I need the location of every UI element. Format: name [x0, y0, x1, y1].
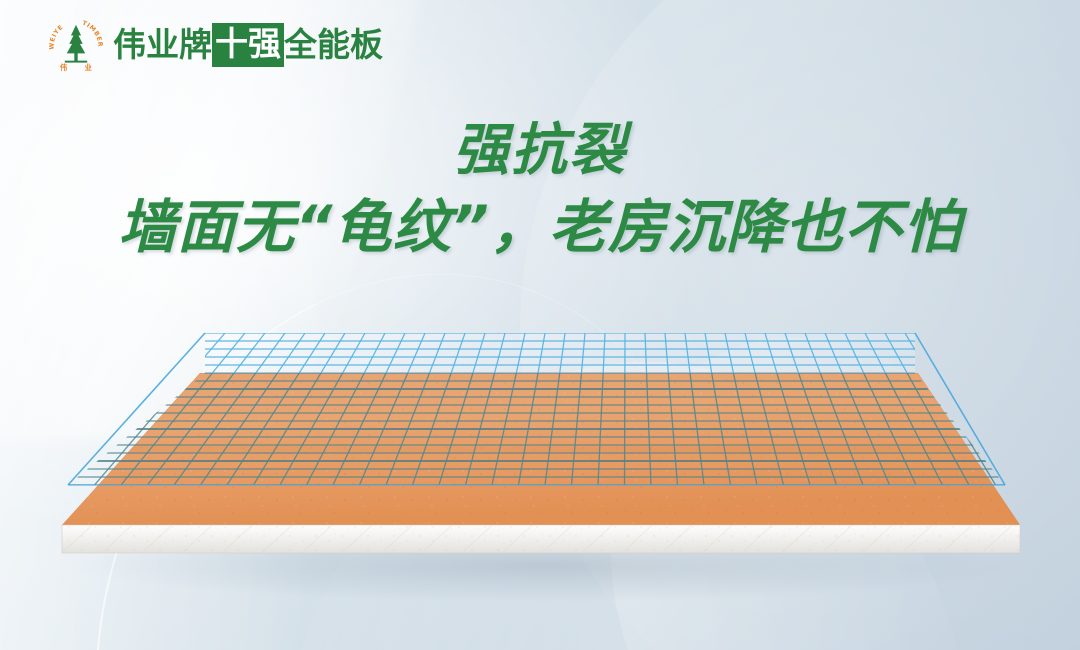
brand-lockup: WEIYE TIMBER 伟 业 伟业牌 十强 全能板	[48, 17, 383, 73]
headline-sub-text: 墙面无“龟纹”，老房沉降也不怕	[0, 190, 1080, 264]
wordmark-segment-badge: 十强	[212, 23, 284, 67]
logo-bottom-char-left: 伟	[60, 63, 68, 72]
poster-canvas: WEIYE TIMBER 伟 业 伟业牌 十强 全能板 强抗裂 墙面无“龟纹”，…	[0, 0, 1080, 650]
logo-ring-text-right: TIMBER	[81, 20, 103, 48]
board-top-face	[55, 368, 1030, 533]
logo-bottom-char-right: 业	[85, 63, 92, 72]
logo-ring-text-left: WEIYE	[49, 24, 65, 50]
pine-tree-shape	[67, 25, 85, 61]
product-board-svg	[0, 0, 1080, 650]
brand-wordmark: 伟业牌 十强 全能板	[113, 25, 383, 65]
svg-text:TIMBER: TIMBER	[81, 20, 103, 48]
wordmark-segment-product: 全能板	[284, 25, 383, 65]
wordmark-segment-brand: 伟业牌	[113, 25, 212, 65]
product-illustration	[0, 0, 1080, 650]
pine-tree-logo-icon: WEIYE TIMBER 伟 业	[48, 17, 104, 73]
svg-text:WEIYE: WEIYE	[49, 24, 65, 50]
headline-main-text: 强抗裂	[0, 118, 1080, 184]
headline-block: 强抗裂 墙面无“龟纹”，老房沉降也不怕	[0, 118, 1080, 264]
